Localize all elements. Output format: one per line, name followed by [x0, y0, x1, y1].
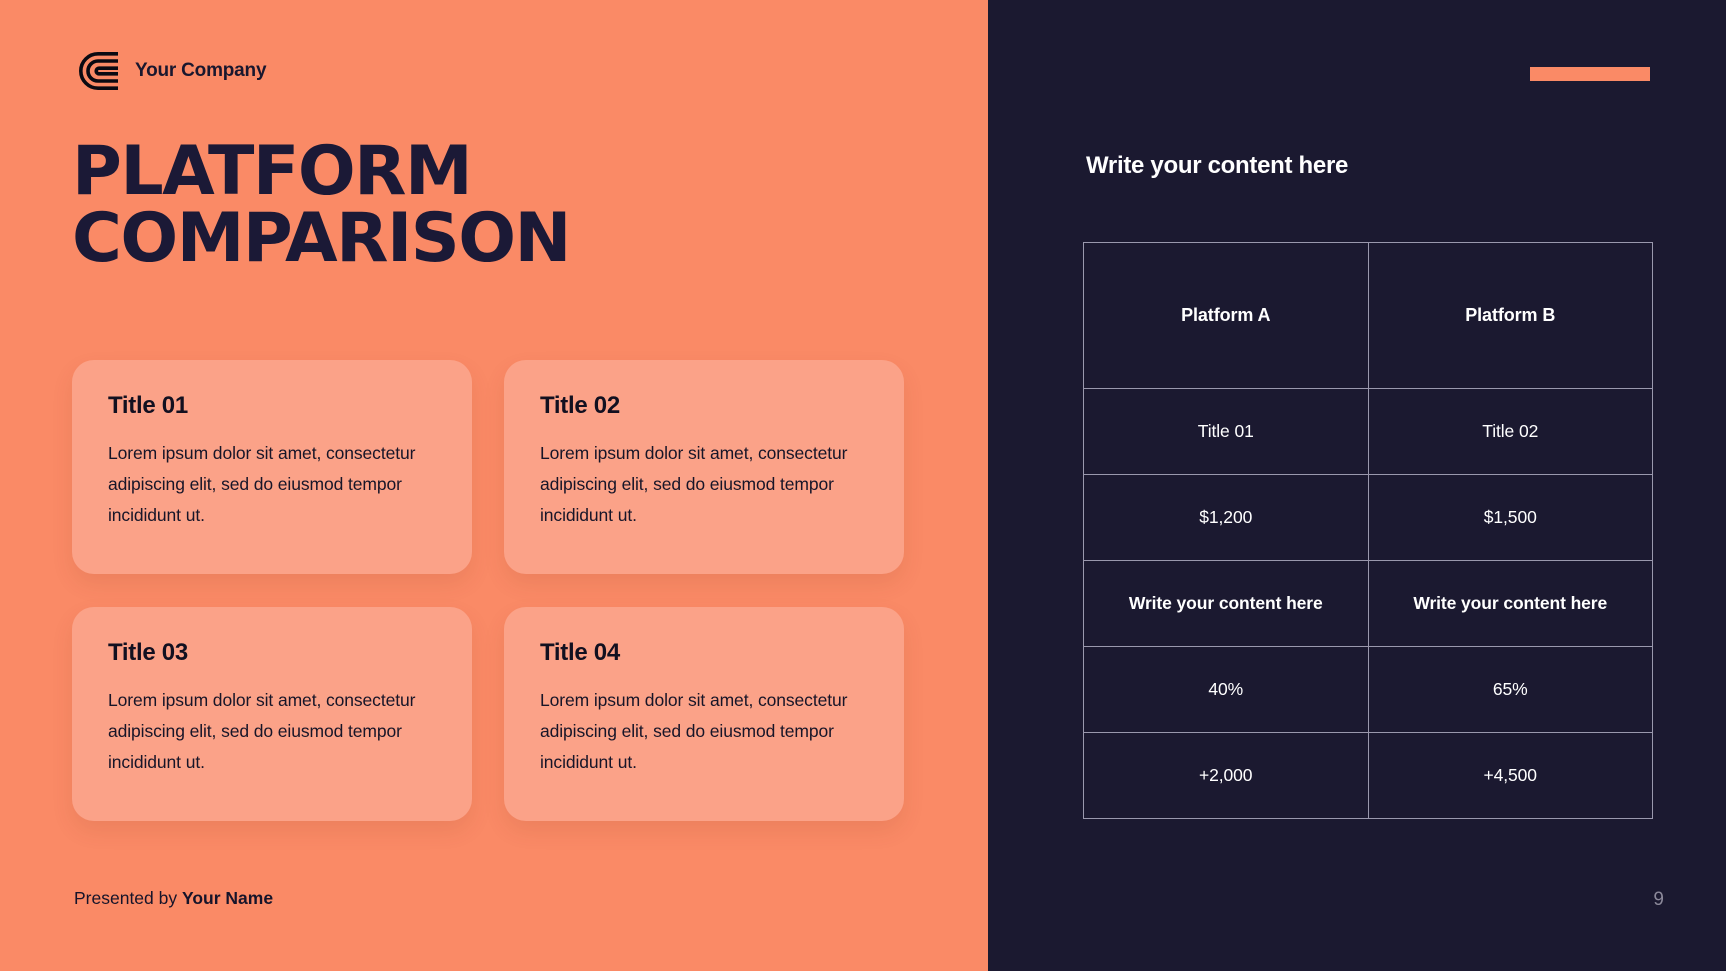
table-cell: $1,200: [1084, 475, 1369, 561]
presenter-prefix: Presented by: [74, 888, 182, 908]
column-header-platform-a: Platform A: [1084, 243, 1369, 389]
table-cell: 40%: [1084, 647, 1369, 733]
card-title: Title 02: [540, 392, 870, 420]
slide: Your Company PLATFORM COMPARISON Title 0…: [0, 0, 1726, 971]
table-row: +2,000 +4,500: [1084, 733, 1653, 819]
column-header-platform-b: Platform B: [1368, 243, 1653, 389]
table-row: Title 01 Title 02: [1084, 389, 1653, 475]
brand: Your Company: [74, 50, 266, 92]
comparison-table: Platform A Platform B Title 01 Title 02 …: [1083, 242, 1653, 819]
table-row: 40% 65%: [1084, 647, 1653, 733]
card-body: Lorem ipsum dolor sit amet, consectetur …: [540, 438, 870, 531]
table-cell: Write your content here: [1368, 561, 1653, 647]
table-cell: Title 02: [1368, 389, 1653, 475]
content-heading: Write your content here: [1086, 152, 1348, 180]
table-header-row: Platform A Platform B: [1084, 243, 1653, 389]
feature-card-grid: Title 01 Lorem ipsum dolor sit amet, con…: [72, 360, 912, 821]
right-panel: Write your content here Platform A Platf…: [988, 0, 1726, 971]
page-title-line2: COMPARISON: [72, 205, 772, 272]
feature-card[interactable]: Title 04 Lorem ipsum dolor sit amet, con…: [504, 607, 904, 821]
feature-card[interactable]: Title 01 Lorem ipsum dolor sit amet, con…: [72, 360, 472, 574]
left-panel: Your Company PLATFORM COMPARISON Title 0…: [0, 0, 988, 971]
card-body: Lorem ipsum dolor sit amet, consectetur …: [108, 685, 438, 778]
table-cell: +2,000: [1084, 733, 1369, 819]
accent-bar: [1530, 67, 1650, 81]
table-row: Write your content here Write your conte…: [1084, 561, 1653, 647]
brand-name: Your Company: [135, 60, 266, 82]
page-number: 9: [1653, 889, 1664, 911]
card-title: Title 04: [540, 639, 870, 667]
page-title: PLATFORM COMPARISON: [72, 138, 772, 273]
table-cell: Title 01: [1084, 389, 1369, 475]
table-cell: 65%: [1368, 647, 1653, 733]
card-title: Title 01: [108, 392, 438, 420]
feature-card[interactable]: Title 03 Lorem ipsum dolor sit amet, con…: [72, 607, 472, 821]
table-head: Platform A Platform B: [1084, 243, 1653, 389]
table-cell: $1,500: [1368, 475, 1653, 561]
feature-card[interactable]: Title 02 Lorem ipsum dolor sit amet, con…: [504, 360, 904, 574]
table-cell: Write your content here: [1084, 561, 1369, 647]
nested-arcs-logo-icon: [74, 50, 118, 92]
card-body: Lorem ipsum dolor sit amet, consectetur …: [108, 438, 438, 531]
table-body: Title 01 Title 02 $1,200 $1,500 Write yo…: [1084, 389, 1653, 819]
presenter-name: Your Name: [182, 888, 273, 908]
card-body: Lorem ipsum dolor sit amet, consectetur …: [540, 685, 870, 778]
presenter-credit: Presented by Your Name: [74, 888, 273, 909]
table-cell: +4,500: [1368, 733, 1653, 819]
table-row: $1,200 $1,500: [1084, 475, 1653, 561]
card-title: Title 03: [108, 639, 438, 667]
